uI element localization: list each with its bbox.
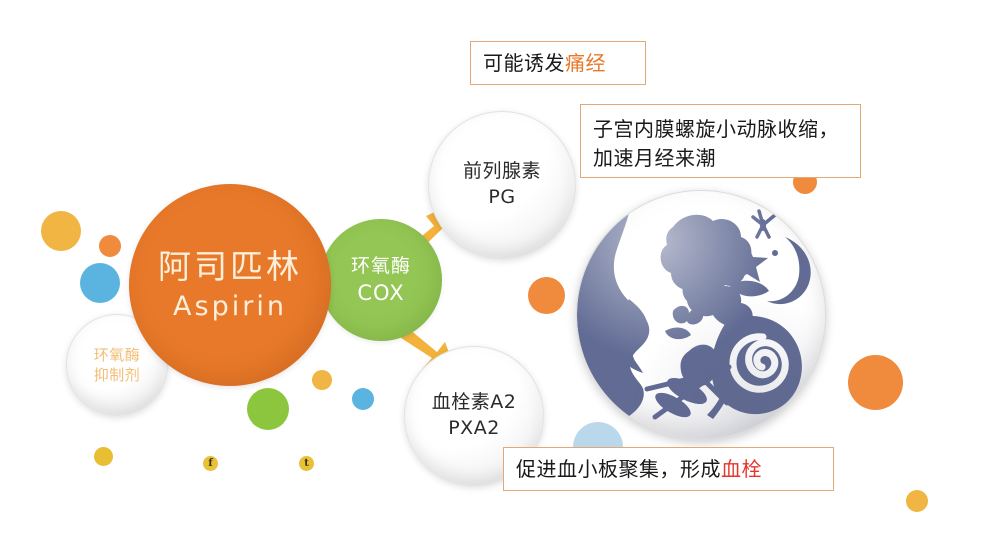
- decor-dot-orange-center: [528, 277, 565, 314]
- node-thromboxane-line2: PXA2: [448, 416, 500, 442]
- woman-silhouette-illustration: [577, 191, 825, 439]
- facebook-icon[interactable]: f: [203, 456, 218, 471]
- decor-dot-yellow-lower-left: [94, 447, 113, 466]
- node-prostaglandin: 前列腺素 PG: [428, 111, 576, 259]
- node-aspirin-label-cn: 阿司匹林: [158, 248, 302, 286]
- node-aspirin: 阿司匹林 Aspirin: [129, 184, 331, 386]
- decor-dot-blue-mid: [352, 388, 374, 410]
- callout-uterus-line1: 子宫内膜螺旋小动脉收缩，: [593, 115, 848, 144]
- decor-dot-orange-small-left: [99, 235, 121, 257]
- decor-dot-yellow-mid: [312, 370, 332, 390]
- node-prostaglandin-line1: 前列腺素: [463, 159, 541, 185]
- twitter-icon[interactable]: t: [299, 456, 314, 471]
- callout-thrombus-highlight: 血栓: [721, 455, 762, 484]
- node-thromboxane-line1: 血栓素A2: [432, 390, 517, 416]
- callout-dysmenorrhea-prefix: 可能诱发: [483, 49, 565, 78]
- node-cox-inhibitor-line2: 抑制剂: [94, 365, 141, 385]
- decor-dot-green-bottom: [247, 388, 289, 430]
- node-cox-label-en: COX: [357, 281, 404, 305]
- decor-dot-blue-left: [80, 263, 120, 303]
- node-cox-label-cn: 环氧酶: [351, 255, 411, 278]
- node-cox: 环氧酶 COX: [320, 219, 442, 341]
- callout-dysmenorrhea: 可能诱发痛经: [470, 41, 646, 85]
- facebook-icon-glyph: f: [208, 458, 212, 469]
- callout-uterus-line2: 加速月经来潮: [593, 144, 848, 173]
- callout-dysmenorrhea-highlight: 痛经: [565, 49, 606, 78]
- callout-uterus: 子宫内膜螺旋小动脉收缩， 加速月经来潮: [580, 104, 861, 178]
- decor-dot-yellow-left: [41, 211, 81, 251]
- diagram-canvas: f t: [0, 0, 1008, 543]
- node-aspirin-label-en: Aspirin: [173, 291, 287, 322]
- callout-thrombus: 促进血小板聚集，形成血栓: [503, 447, 834, 491]
- node-prostaglandin-line2: PG: [488, 185, 515, 211]
- node-cox-inhibitor-line1: 环氧酶: [94, 345, 141, 365]
- callout-thrombus-prefix: 促进血小板聚集，形成: [516, 455, 721, 484]
- twitter-icon-glyph: t: [304, 458, 309, 469]
- illustration-circle: [576, 190, 826, 440]
- decor-dot-yellow-bottom-right: [906, 490, 928, 512]
- decor-dot-orange-right: [848, 355, 903, 410]
